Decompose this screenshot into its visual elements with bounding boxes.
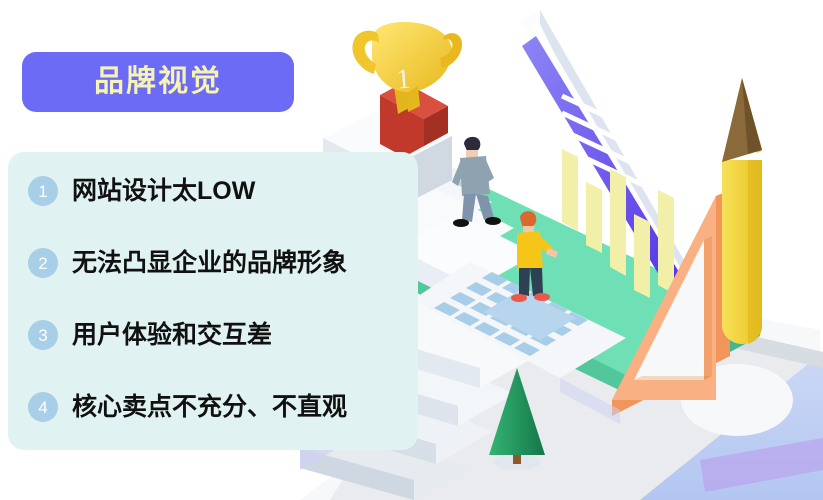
list-item-label: 无法凸显企业的品牌形象 (72, 251, 347, 276)
list-item: 1 网站设计太LOW (28, 176, 255, 206)
list-item-number: 2 (28, 248, 58, 278)
brand-title-label: 品牌视觉 (94, 67, 222, 97)
pain-points-panel: 1 网站设计太LOW 2 无法凸显企业的品牌形象 3 用户体验和交互差 4 核心… (8, 152, 418, 450)
pencil-icon (722, 78, 762, 344)
list-item-number: 3 (28, 320, 58, 350)
poster-canvas: 1 (0, 0, 823, 500)
list-item: 2 无法凸显企业的品牌形象 (28, 248, 347, 278)
list-item: 4 核心卖点不充分、不直观 (28, 392, 347, 422)
list-item-label: 核心卖点不充分、不直观 (72, 395, 347, 420)
trophy-rank-label: 1 (395, 64, 411, 96)
list-item-number: 1 (28, 176, 58, 206)
list-item-label: 用户体验和交互差 (72, 323, 272, 348)
list-item: 3 用户体验和交互差 (28, 320, 272, 350)
list-item-number: 4 (28, 392, 58, 422)
brand-title-badge: 品牌视觉 (22, 52, 294, 112)
list-item-label: 网站设计太LOW (72, 179, 255, 204)
